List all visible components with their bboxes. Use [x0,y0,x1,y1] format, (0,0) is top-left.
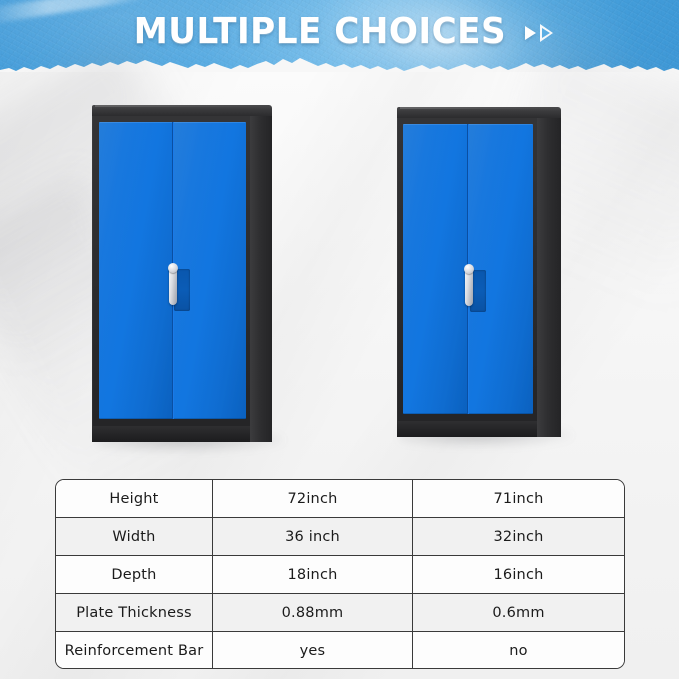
product-image-cabinet-large [92,105,272,442]
specification-comparison-table: Height 72inch 71inch Width 36 inch 32inc… [55,479,625,669]
spec-value-product-a: 36 inch [213,518,413,555]
spec-label: Reinforcement Bar [56,632,213,669]
spec-value-product-a: yes [213,632,413,669]
spec-value-product-b: 32inch [413,518,624,555]
spec-value-product-a: 0.88mm [213,594,413,631]
cabinet-base [92,426,272,442]
spec-value-product-b: no [413,632,624,669]
cabinet-top-highlight [400,107,553,109]
page-title: MULTIPLE CHOICES [133,11,505,52]
product-comparison-page: MULTIPLE CHOICES [0,0,679,679]
door-sheen [469,124,533,414]
door-handle-knob [464,264,474,274]
play-triangle-filled-icon [525,26,536,40]
spec-value-product-b: 71inch [413,480,624,517]
spec-value-product-a: 18inch [213,556,413,593]
cabinet-door-left [403,124,468,414]
product-image-cabinet-small [397,107,561,437]
table-row: Plate Thickness 0.88mm 0.6mm [56,594,624,632]
table-row: Reinforcement Bar yes no [56,632,624,669]
table-row: Width 36 inch 32inch [56,518,624,556]
spec-label: Height [56,480,213,517]
cabinet-top-panel [92,105,272,116]
cabinet-door-left [99,122,173,419]
cabinet-top-highlight [95,105,264,107]
cabinet-side-panel [537,114,561,437]
spec-label: Width [56,518,213,555]
spec-value-product-a: 72inch [213,480,413,517]
table-row: Depth 18inch 16inch [56,556,624,594]
cabinet-door-right [468,124,533,414]
door-handle-knob [168,263,178,273]
cabinet-top-panel [397,107,561,118]
cabinet-side-panel [250,112,272,442]
door-sheen [99,122,172,419]
door-sheen [403,124,467,414]
spec-value-product-b: 16inch [413,556,624,593]
spec-value-product-b: 0.6mm [413,594,624,631]
spec-label: Depth [56,556,213,593]
table-row: Height 72inch 71inch [56,480,624,518]
spec-label: Plate Thickness [56,594,213,631]
